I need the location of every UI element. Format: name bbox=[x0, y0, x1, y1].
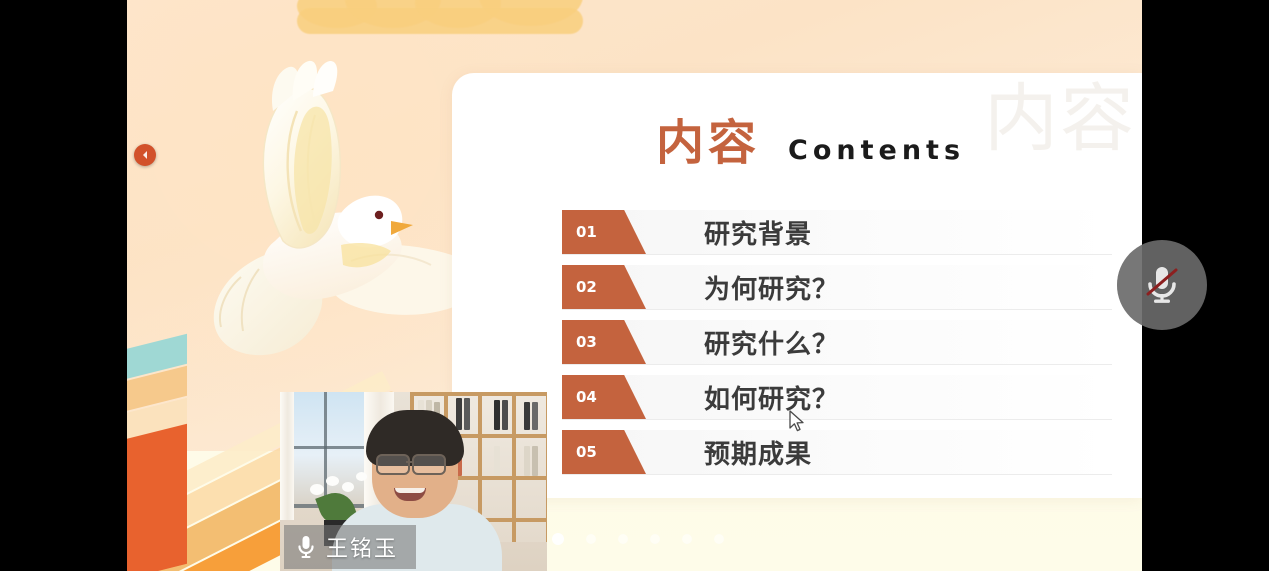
list-item-label: 研究什么？ bbox=[704, 324, 839, 361]
slide-dot bbox=[618, 534, 628, 544]
orchid-flower bbox=[356, 472, 367, 481]
window-background bbox=[280, 392, 376, 507]
page-title-cn: 内容 bbox=[656, 103, 760, 173]
participant-name: 王铭玉 bbox=[326, 531, 398, 563]
list-item-number: 05 bbox=[562, 430, 646, 474]
list-item: 01 研究背景 bbox=[562, 210, 1112, 255]
mute-microphone-button[interactable] bbox=[1117, 240, 1207, 330]
glasses-right-lens bbox=[412, 454, 446, 475]
orchid-flower bbox=[342, 482, 354, 492]
list-item-number: 02 bbox=[562, 265, 646, 309]
list-item-label: 研究背景 bbox=[704, 214, 812, 251]
microphone-icon bbox=[296, 534, 316, 560]
contents-list: 01 研究背景 02 为何研究？ 03 研究什么？ 04 如何研究？ 05 bbox=[562, 210, 1112, 485]
chevron-left-icon bbox=[140, 150, 150, 160]
card-watermark: 内容 bbox=[984, 81, 1136, 159]
glasses-bridge bbox=[406, 461, 414, 463]
slide-dots bbox=[552, 533, 724, 545]
microphone-muted-icon bbox=[1142, 262, 1182, 308]
list-item-label: 为何研究？ bbox=[704, 269, 839, 306]
list-item-number: 04 bbox=[562, 375, 646, 419]
orchid-flower bbox=[326, 476, 339, 486]
slide-dot bbox=[586, 534, 596, 544]
list-item: 03 研究什么？ bbox=[562, 320, 1112, 365]
slide-dot bbox=[552, 533, 564, 545]
card-heading: 内容 Contents bbox=[656, 103, 965, 173]
shared-slide-stage: 内容 内容 Contents 01 研究背景 02 为何研究？ 03 研究什么？ bbox=[127, 0, 1142, 571]
list-item-number: 03 bbox=[562, 320, 646, 364]
participant-video-tile[interactable]: 王铭玉 bbox=[280, 392, 547, 571]
letterbox-left bbox=[0, 0, 127, 571]
participant-name-plate: 王铭玉 bbox=[284, 525, 416, 569]
contents-card: 内容 内容 Contents 01 研究背景 02 为何研究？ 03 研究什么？ bbox=[452, 73, 1142, 498]
list-item-label: 预期成果 bbox=[704, 434, 812, 471]
collapse-panel-button[interactable] bbox=[134, 144, 156, 166]
list-item-number: 01 bbox=[562, 210, 646, 254]
list-item: 05 预期成果 bbox=[562, 430, 1112, 475]
slide-dot bbox=[650, 534, 660, 544]
glasses-left-lens bbox=[376, 454, 410, 475]
participant-teeth bbox=[395, 488, 425, 493]
list-item: 02 为何研究？ bbox=[562, 265, 1112, 310]
slide-dot bbox=[682, 534, 692, 544]
curtain bbox=[280, 392, 294, 520]
screen-root: 内容 内容 Contents 01 研究背景 02 为何研究？ 03 研究什么？ bbox=[0, 0, 1269, 571]
list-item-label: 如何研究？ bbox=[704, 379, 839, 416]
left-color-strip bbox=[127, 330, 187, 571]
list-item: 04 如何研究？ bbox=[562, 375, 1112, 420]
orchid-flower bbox=[310, 484, 324, 495]
slide-dot bbox=[714, 534, 724, 544]
page-title-en: Contents bbox=[788, 135, 965, 166]
